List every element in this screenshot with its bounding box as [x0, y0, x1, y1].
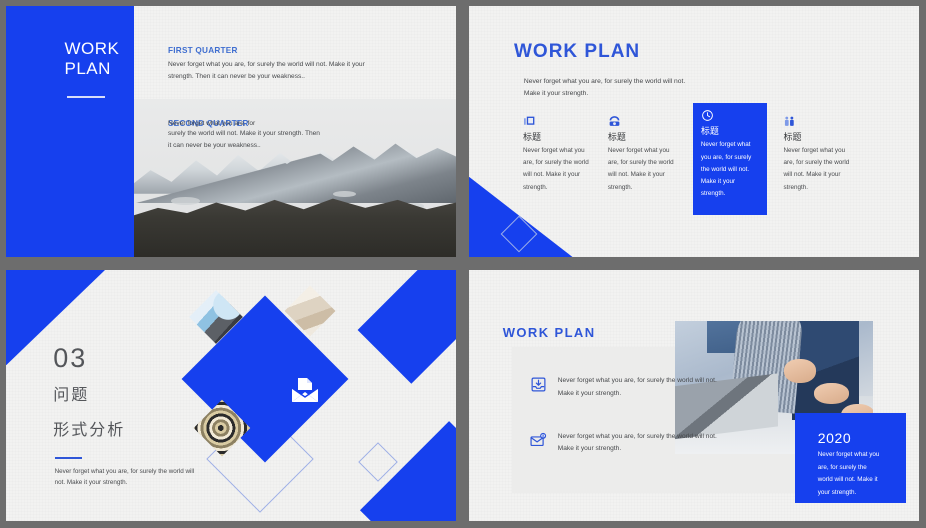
slide-3-cell[interactable]: 03 问题 形式分析 Never forget what you are, fo… — [0, 264, 463, 528]
slide-2-cell[interactable]: WORK PLAN Never forget what you are, for… — [463, 0, 926, 264]
feature-column[interactable]: 标题 Never forget what you are, for surely… — [783, 114, 851, 216]
section-heading-cn-1: 问题 — [53, 388, 89, 404]
mail-user-icon — [530, 431, 552, 457]
first-quarter-body: Never forget what you are, for surely th… — [168, 59, 371, 82]
bar-chart-icon — [523, 114, 591, 129]
feature-title: 标题 — [701, 127, 759, 136]
section-rule — [55, 457, 82, 459]
inbox-download-icon — [530, 375, 552, 401]
second-quarter-block: SECOND QUARTER Never forget what you are… — [168, 119, 321, 151]
slide-thumbnail-grid: WORK PLAN FIRST QUARTER Never forget wha… — [0, 0, 926, 528]
slide-1-cell[interactable]: WORK PLAN FIRST QUARTER Never forget wha… — [0, 0, 463, 264]
feature-column[interactable]: 标题 Never forget what you are, for surely… — [608, 114, 676, 216]
page-title: WORK PLAN — [514, 41, 640, 63]
page-title: WORK PLAN — [503, 325, 596, 340]
slide-work-plan-cover[interactable]: WORK PLAN FIRST QUARTER Never forget wha… — [6, 6, 456, 257]
feature-columns: 标题 Never forget what you are, for surely… — [523, 114, 892, 216]
clock-icon — [701, 108, 759, 123]
feature-column[interactable]: 标题 Never forget what you are, for surely… — [523, 114, 591, 216]
slide-work-plan-photo[interactable]: WORK PLAN Never forget what you are, for… — [469, 270, 919, 521]
second-quarter-body: surely the world will not. Make it your … — [168, 128, 321, 151]
list-item-body: Never forget what you are, for surely th… — [558, 431, 733, 457]
feature-title: 标题 — [608, 133, 676, 142]
slide-section-divider[interactable]: 03 问题 形式分析 Never forget what you are, fo… — [6, 270, 456, 521]
page-subtitle: Never forget what you are, for surely th… — [524, 76, 686, 99]
list-item[interactable]: Never forget what you are, for surely th… — [530, 375, 733, 401]
right-diamond-band-decoration — [348, 270, 456, 521]
cover-title-rule — [67, 96, 105, 98]
feature-body: Never forget what you are, for surely th… — [701, 139, 759, 200]
first-quarter-block: FIRST QUARTER Never forget what you are,… — [168, 46, 371, 82]
feature-column-highlighted[interactable]: 标题 Never forget what you are, for surely… — [693, 103, 767, 216]
slide-4-cell[interactable]: WORK PLAN Never forget what you are, for… — [463, 264, 926, 528]
cover-title-line2: PLAN — [65, 59, 120, 80]
cover-title: WORK PLAN — [65, 39, 120, 80]
telephone-icon — [608, 114, 676, 129]
feature-body: Never forget what you are, for surely th… — [608, 145, 676, 194]
people-pair-icon — [783, 114, 851, 129]
section-number: 03 — [53, 345, 87, 372]
list-item-body: Never forget what you are, for surely th… — [558, 375, 733, 401]
feature-body: Never forget what you are, for surely th… — [783, 145, 851, 194]
second-quarter-body-first-line: Never forget what you are, for — [168, 120, 255, 127]
feature-title: 标题 — [783, 133, 851, 142]
list-item[interactable]: Never forget what you are, for surely th… — [530, 431, 733, 457]
section-heading-cn-2: 形式分析 — [53, 423, 125, 439]
year-callout-card: 2020 Never forget what you are, for sure… — [795, 413, 905, 503]
feature-title: 标题 — [523, 133, 591, 142]
slide-work-plan-columns[interactable]: WORK PLAN Never forget what you are, for… — [469, 6, 919, 257]
image-placeholder-icon — [290, 377, 320, 408]
year-card-body: Never forget what you are, for surely th… — [818, 449, 883, 499]
section-body: Never forget what you are, for surely th… — [55, 466, 199, 489]
year-label: 2020 — [818, 431, 883, 445]
first-quarter-heading: FIRST QUARTER — [168, 46, 371, 55]
second-quarter-overlap: SECOND QUARTER Never forget what you are… — [168, 119, 321, 128]
feature-body: Never forget what you are, for surely th… — [523, 145, 591, 194]
cover-title-line1: WORK — [65, 39, 120, 60]
